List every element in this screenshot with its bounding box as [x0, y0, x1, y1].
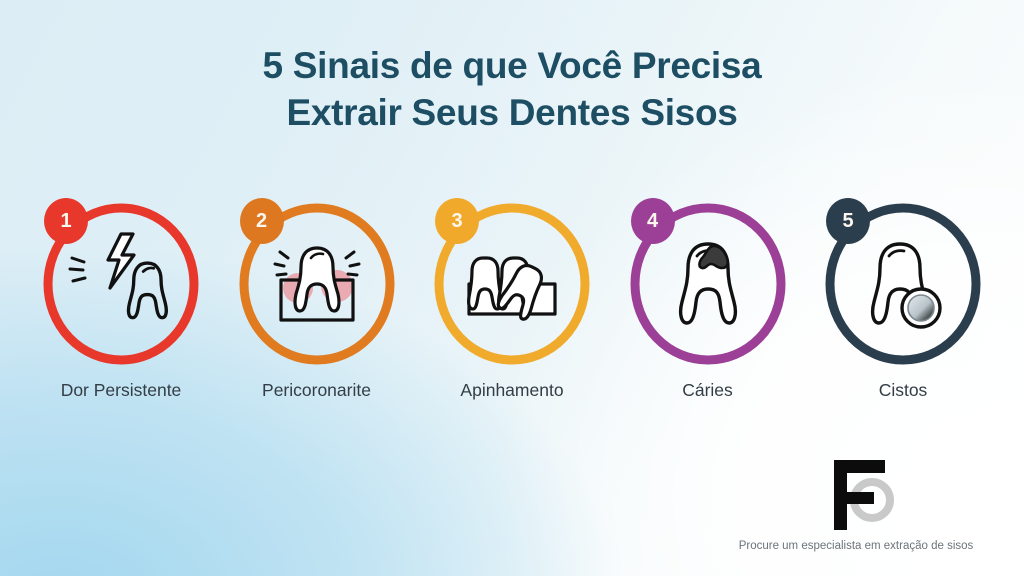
- sign-item-pericoronarite[interactable]: 2 Pericoronarite: [228, 196, 406, 406]
- signs-row: 1 Dor Persistente: [32, 196, 992, 406]
- tooth-cavity-icon: [680, 244, 735, 323]
- brand-block: Procure um especialista em extração de s…: [706, 456, 1006, 554]
- sign-item-caries[interactable]: 4 Cáries: [619, 196, 797, 406]
- sign-item-dor-persistente[interactable]: 1 Dor Persistente: [32, 196, 210, 406]
- sign-number-3: 3: [451, 211, 462, 231]
- sign-label-4: Cáries: [682, 379, 733, 401]
- sign-label-2: Pericoronarite: [262, 379, 371, 401]
- sign-label-1: Dor Persistente: [61, 379, 182, 401]
- f-circle-logo: [810, 456, 902, 532]
- tooth-inflamed-gum-icon: [275, 248, 359, 320]
- sign-number-1: 1: [60, 211, 71, 231]
- sign-badge-1: 1: [44, 198, 88, 244]
- crowded-teeth-icon: [469, 258, 555, 321]
- sign-number-5: 5: [842, 211, 853, 231]
- sign-number-2: 2: [256, 211, 267, 231]
- sign-badge-5: 5: [826, 198, 870, 244]
- sign-number-4: 4: [647, 211, 658, 231]
- tooth-cyst-icon: [873, 244, 940, 327]
- sign-ring-1: 1: [36, 196, 206, 368]
- sign-badge-2: 2: [240, 198, 284, 244]
- infographic-canvas: 5 Sinais de que Você Precisa Extrair Seu…: [0, 0, 1024, 576]
- sign-ring-2: 2: [232, 196, 402, 368]
- sign-ring-5: 5: [818, 196, 988, 368]
- page-title: 5 Sinais de que Você Precisa Extrair Seu…: [0, 42, 1024, 136]
- sign-item-cistos[interactable]: 5 Cistos: [814, 196, 992, 406]
- sign-label-5: Cistos: [879, 379, 928, 401]
- logo-f-mid-bar: [834, 492, 874, 504]
- tooth-lightning-pain-icon: [70, 234, 166, 318]
- logo-f-top-bar: [834, 460, 885, 473]
- brand-tagline: Procure um especialista em extração de s…: [739, 539, 974, 554]
- sign-item-apinhamento[interactable]: 3 Apinhamento: [423, 196, 601, 406]
- sign-badge-4: 4: [631, 198, 675, 244]
- sign-badge-3: 3: [435, 198, 479, 244]
- sign-label-3: Apinhamento: [460, 379, 563, 401]
- title-line-2: Extrair Seus Dentes Sisos: [0, 89, 1024, 136]
- title-line-1: 5 Sinais de que Você Precisa: [0, 42, 1024, 89]
- sign-ring-3: 3: [427, 196, 597, 368]
- sign-ring-4: 4: [623, 196, 793, 368]
